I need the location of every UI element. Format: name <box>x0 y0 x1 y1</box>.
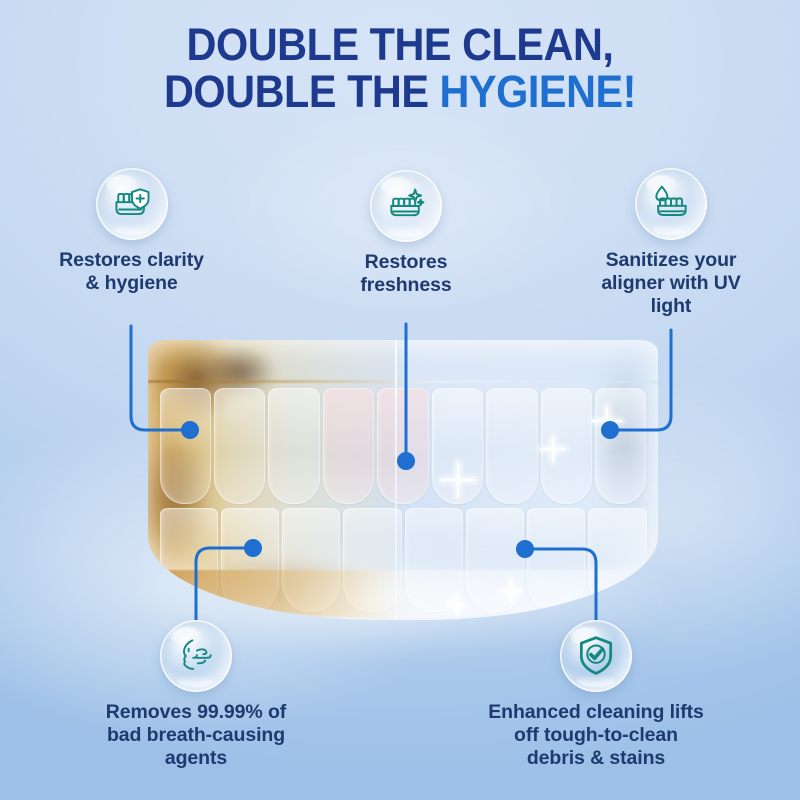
upper-tooth-row <box>158 388 648 504</box>
infographic-canvas: DOUBLE THE CLEAN, DOUBLE THE HYGIENE! <box>0 0 800 800</box>
aligner-shield-plus-icon <box>110 182 154 226</box>
headline-line-2-plain: DOUBLE THE <box>164 66 440 117</box>
tooth <box>268 388 319 504</box>
aligner-sparkle-icon <box>384 184 428 228</box>
headline-line-1: DOUBLE THE CLEAN, <box>32 22 768 69</box>
tooth <box>214 388 265 504</box>
feature-label: Restores clarity & hygiene <box>19 249 244 295</box>
feature-bubble <box>635 168 707 240</box>
feature-sanitizes-uv[interactable]: Sanitizes your aligner with UV light <box>562 168 780 318</box>
before-after-split-line <box>395 340 397 620</box>
feature-label: Removes 99.99% of bad breath-causing age… <box>53 701 339 770</box>
feature-label: Enhanced cleaning lifts off tough-to-cle… <box>453 701 739 770</box>
headline: DOUBLE THE CLEAN, DOUBLE THE HYGIENE! <box>0 22 800 116</box>
tooth <box>595 388 646 504</box>
product-aligner-image <box>148 340 658 620</box>
feature-restores-clarity[interactable]: Restores clarity & hygiene <box>19 168 244 295</box>
feature-label: Sanitizes your aligner with UV light <box>562 249 780 318</box>
aligner-gumline <box>148 380 658 383</box>
feature-bubble <box>370 170 442 242</box>
feature-bubble <box>560 620 632 692</box>
feature-restores-freshness[interactable]: Restores freshness <box>300 170 512 297</box>
headline-line-2: DOUBLE THE HYGIENE! <box>32 69 768 116</box>
face-fresh-breath-icon <box>174 634 218 678</box>
headline-accent-hygiene: HYGIENE! <box>440 66 636 117</box>
tooth <box>486 388 537 504</box>
tooth <box>160 388 211 504</box>
aligner-water-droplet-icon <box>649 182 693 226</box>
tooth <box>541 388 592 504</box>
feature-bubble <box>160 620 232 692</box>
feature-bubble <box>96 168 168 240</box>
tooth <box>432 388 483 504</box>
tooth <box>323 388 374 504</box>
shield-check-icon <box>574 634 618 678</box>
tooth <box>377 388 428 504</box>
feature-removes-bad-breath[interactable]: Removes 99.99% of bad breath-causing age… <box>53 620 339 770</box>
feature-enhanced-cleaning[interactable]: Enhanced cleaning lifts off tough-to-cle… <box>453 620 739 770</box>
feature-label: Restores freshness <box>300 251 512 297</box>
